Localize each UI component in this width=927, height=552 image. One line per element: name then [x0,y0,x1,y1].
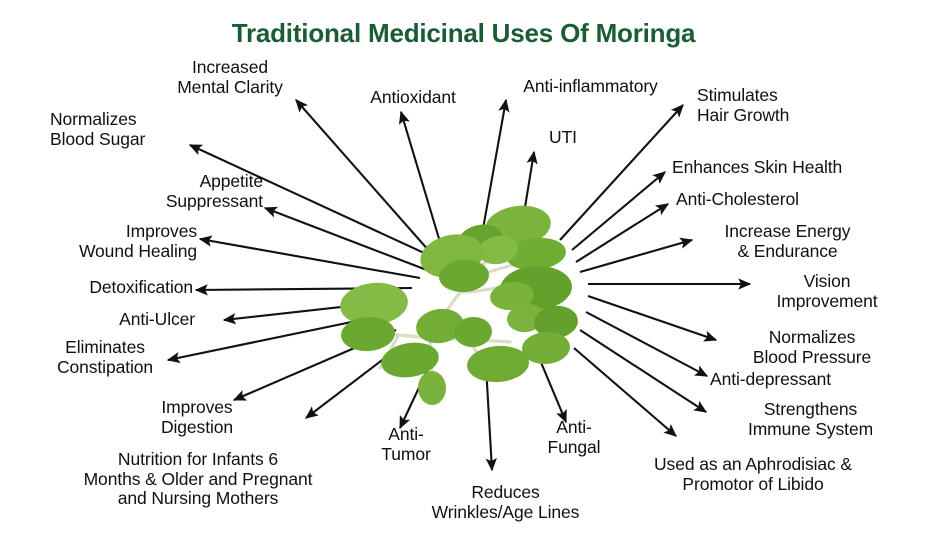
benefit-label-anti-inflammatory: Anti-inflammatory [498,77,683,97]
benefit-label-appetite-suppressant: Appetite Suppressant [113,172,263,211]
benefit-label-anti-tumor: Anti- Tumor [362,425,450,464]
benefit-label-anti-cholesterol: Anti-Cholesterol [676,190,861,210]
page-title: Traditional Medicinal Uses Of Moringa [0,18,927,49]
benefit-label-uti: UTI [535,128,591,148]
benefit-label-anti-fungal: Anti- Fungal [528,418,620,457]
benefit-label-antioxidant: Antioxidant [348,88,478,108]
benefit-label-stimulates-hair-growth: Stimulates Hair Growth [697,86,867,125]
benefit-label-eliminates-constipation: Eliminates Constipation [30,338,180,377]
benefit-label-improves-digestion: Improves Digestion [122,398,272,437]
benefit-label-strengthens-immune-system: Strengthens Immune System [718,400,903,439]
benefit-label-nutrition-for-infants: Nutrition for Infants 6 Months & Older a… [48,450,348,509]
benefit-label-reduces-wrinkles: Reduces Wrinkles/Age Lines [398,483,613,522]
benefit-label-increased-mental-clarity: Increased Mental Clarity [150,58,310,97]
benefit-label-improves-wound-healing: Improves Wound Healing [32,222,197,261]
benefit-label-normalizes-blood-pressure: Normalizes Blood Pressure [722,328,902,367]
moringa-plant-image [330,196,620,411]
benefit-label-enhances-skin-health: Enhances Skin Health [672,158,897,178]
benefit-label-increase-energy-endurance: Increase Energy & Endurance [700,222,875,261]
benefit-label-anti-depressant: Anti-depressant [710,370,895,390]
benefit-label-detoxification: Detoxification [38,278,193,298]
benefit-label-vision-improvement: Vision Improvement [742,272,912,311]
infographic-canvas: Traditional Medicinal Uses Of Moringa [0,0,927,552]
plant-leaflets [338,202,580,406]
benefit-label-used-as-aphrodisiac: Used as an Aphrodisiac & Promotor of Lib… [613,455,893,494]
benefit-label-normalizes-blood-sugar: Normalizes Blood Sugar [50,110,200,149]
benefit-label-anti-ulcer: Anti-Ulcer [75,310,195,330]
